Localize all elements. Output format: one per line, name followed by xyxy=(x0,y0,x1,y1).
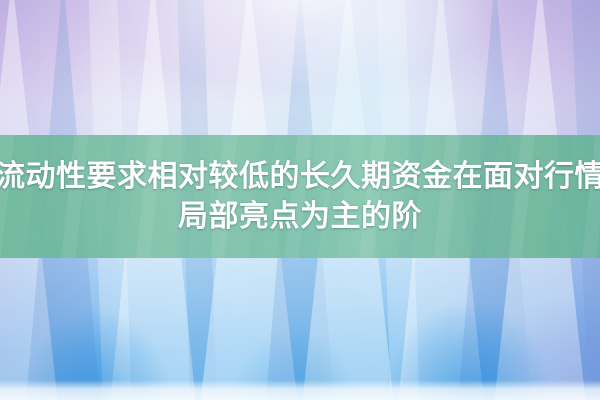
caption-text-block: 对流动性要求相对较低的长久期资金在面对行情以 局部亮点为主的阶 xyxy=(0,135,600,258)
caption-line-1: 对流动性要求相对较低的长久期资金在面对行情以 xyxy=(0,159,600,195)
caption-line-2: 局部亮点为主的阶 xyxy=(178,199,422,235)
watermark: · · · xyxy=(0,387,600,397)
decorative-banner: 对流动性要求相对较低的长久期资金在面对行情以 局部亮点为主的阶 · · · xyxy=(0,0,600,400)
